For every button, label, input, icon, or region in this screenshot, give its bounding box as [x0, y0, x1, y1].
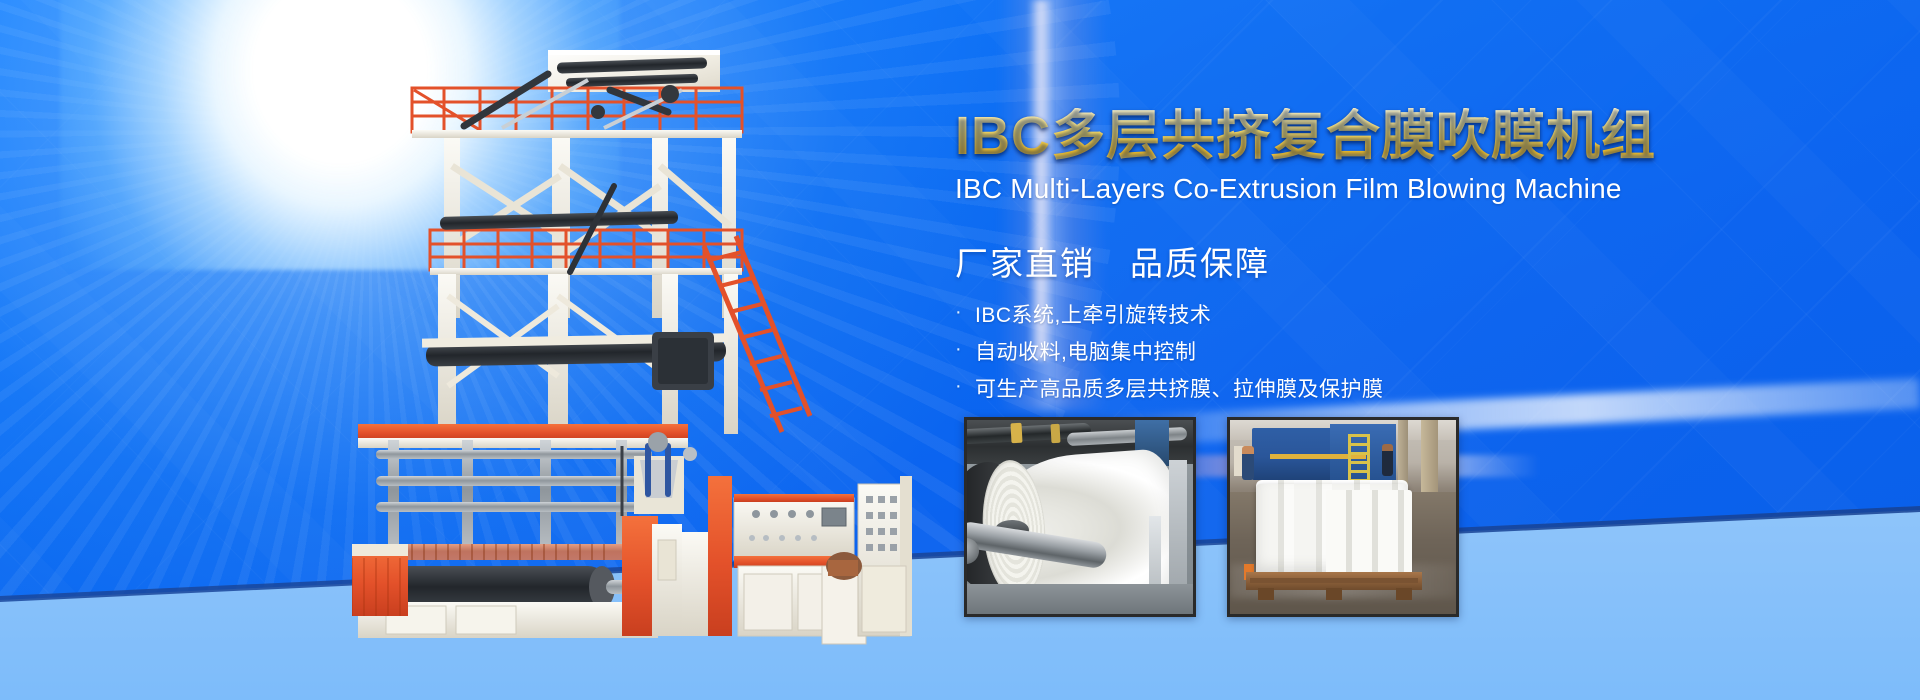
bullet-dot-icon: · [955, 302, 969, 322]
promo-banner: IBC多层共挤复合膜吹膜机组 IBC Multi-Layers Co-Extru… [0, 0, 1920, 700]
photo2-pallet-slat [1250, 578, 1418, 583]
bullet-dot-icon: · [955, 339, 969, 359]
feature-item: · IBC系统,上牵引旋转技术 [955, 305, 1655, 326]
feature-item-label: 可生产高品质多层共挤膜、拉伸膜及保护膜 [975, 379, 1384, 400]
photo-pallet-of-film-rolls[interactable] [1227, 417, 1459, 617]
page-subtitle: IBC Multi-Layers Co-Extrusion Film Blowi… [955, 173, 1655, 205]
film-blowing-machine-illustration [352, 46, 912, 646]
photo2-worker-2 [1382, 444, 1393, 476]
photo1-shaft-band-2 [1051, 424, 1061, 443]
bullet-dot-icon: · [955, 376, 969, 396]
feature-list: · IBC系统,上牵引旋转技术 · 自动收料,电脑集中控制 · 可生产高品质多层… [955, 305, 1655, 400]
feature-item: · 可生产高品质多层共挤膜、拉伸膜及保护膜 [955, 379, 1655, 400]
feature-item: · 自动收料,电脑集中控制 [955, 342, 1655, 363]
photo-film-roll[interactable] [964, 417, 1196, 617]
feature-item-label: IBC系统,上牵引旋转技术 [975, 305, 1211, 326]
feature-item-label: 自动收料,电脑集中控制 [975, 342, 1196, 363]
photo2-pallet-leg [1396, 588, 1412, 600]
photo2-pallet-leg [1258, 588, 1274, 600]
photo2-pallet-leg [1326, 588, 1342, 600]
photo1-machine-base [967, 584, 1193, 614]
photo2-worker [1242, 446, 1254, 480]
photo1-shaft-band [1010, 423, 1022, 444]
slogan: 厂家直销 品质保障 [955, 237, 1655, 285]
headline-block: IBC多层共挤复合膜吹膜机组 IBC Multi-Layers Co-Extru… [955, 108, 1655, 416]
photo2-film-rolls-back [1326, 490, 1412, 578]
page-title: IBC多层共挤复合膜吹膜机组 [955, 108, 1655, 165]
